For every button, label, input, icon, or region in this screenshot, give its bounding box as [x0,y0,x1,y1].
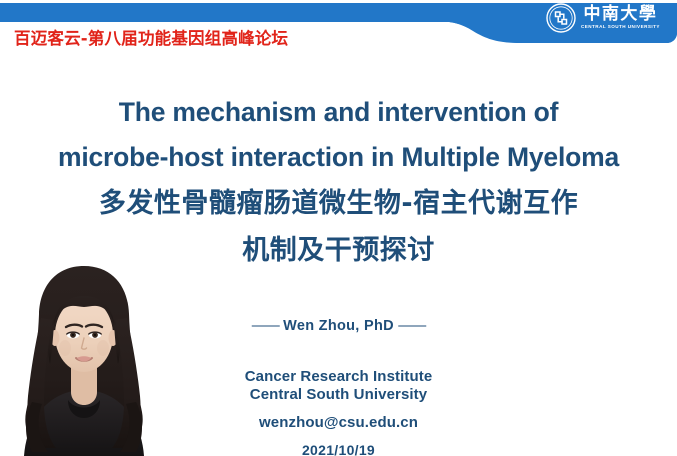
conference-title: 百迈客云-第八届功能基因组高峰论坛 [14,25,288,49]
speaker-dash-right: —— [398,318,425,334]
university-name-en: CENTRAL SOUTH UNIVERSITY [581,25,660,30]
title-chinese-line2: 机制及干预探讨 [0,227,677,274]
affiliation-line-2: Central South University [0,386,677,404]
presentation-slide: 中南大學 CENTRAL SOUTH UNIVERSITY 百迈客云-第八届功能… [0,0,677,456]
speaker-name-line: —— Wen Zhou, PhD —— [0,318,677,334]
title-english-line2: microbe-host interaction in Multiple Mye… [0,135,677,180]
university-logo: 中南大學 CENTRAL SOUTH UNIVERSITY [546,3,660,33]
speaker-dash-left: —— [252,318,279,334]
title-chinese-line1: 多发性骨髓瘤肠道微生物-宿主代谢互作 [0,180,677,227]
slide-title-block: The mechanism and intervention of microb… [0,90,677,274]
speaker-email: wenzhou@csu.edu.cn [0,414,677,432]
university-name-cn: 中南大學 [583,6,657,23]
title-english-line1: The mechanism and intervention of [0,90,677,135]
affiliation-line-1: Cancer Research Institute [0,368,677,386]
university-seal-icon [546,3,576,33]
speaker-name: Wen Zhou, PhD [283,318,394,334]
university-logo-text: 中南大學 CENTRAL SOUTH UNIVERSITY [581,6,660,30]
presentation-date: 2021/10/19 [0,441,677,456]
affiliation-block: Cancer Research Institute Central South … [0,368,677,456]
